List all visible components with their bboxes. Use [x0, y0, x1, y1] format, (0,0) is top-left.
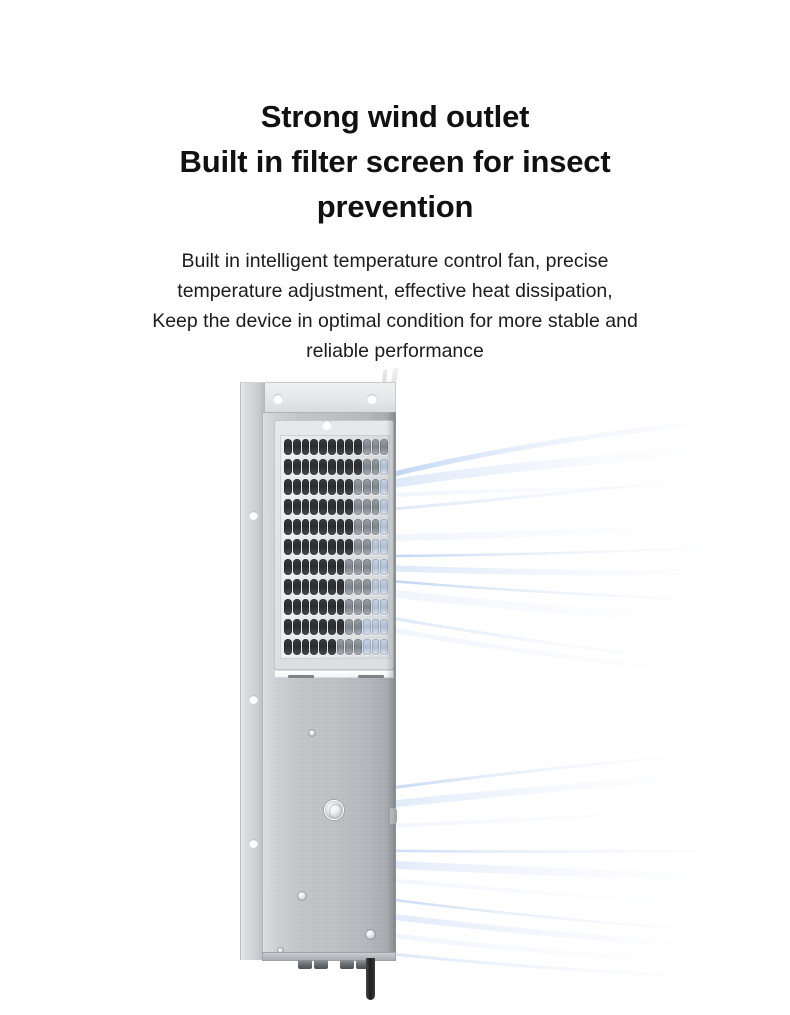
- grille-slot: [310, 579, 318, 595]
- grille-slot: [337, 579, 345, 595]
- grille-slot: [302, 559, 310, 575]
- grille-slot: [319, 599, 327, 615]
- grille-slot: [284, 559, 292, 575]
- grille-slot: [372, 539, 380, 555]
- grille-slot: [372, 459, 380, 475]
- grille-slot: [293, 579, 301, 595]
- grille-slot: [310, 639, 318, 655]
- grille-slot: [310, 619, 318, 635]
- grille-slot: [354, 479, 362, 495]
- grille-slot: [363, 579, 371, 595]
- grille-slot: [337, 499, 345, 515]
- grille-slot: [337, 519, 345, 535]
- grille-slot: [310, 439, 318, 455]
- grille-slot: [345, 579, 353, 595]
- grille-slot: [293, 499, 301, 515]
- grille-slot: [363, 439, 371, 455]
- grille-slot: [354, 599, 362, 615]
- page-description-line-1: Built in intelligent temperature control…: [0, 246, 790, 276]
- grille-slot-grid: [284, 439, 388, 657]
- grille-slot: [310, 459, 318, 475]
- grille-slot: [328, 639, 336, 655]
- grille-slot: [319, 579, 327, 595]
- grille-slot: [293, 519, 301, 535]
- page-description-line-2: temperature adjustment, effective heat d…: [0, 276, 790, 306]
- grille-slot: [363, 639, 371, 655]
- grille-slot: [284, 639, 292, 655]
- grille-slot: [345, 539, 353, 555]
- chassis-bottom-edge: [262, 952, 396, 961]
- grille-slot: [293, 639, 301, 655]
- grille-slot: [293, 619, 301, 635]
- grille-slot: [284, 539, 292, 555]
- grille-slot: [337, 439, 345, 455]
- fixing-screw: [366, 930, 375, 939]
- grille-slot: [319, 499, 327, 515]
- grille-slot: [372, 439, 380, 455]
- grille-slot: [372, 639, 380, 655]
- grille-slot: [363, 459, 371, 475]
- grille-slot: [302, 479, 310, 495]
- fixing-screw: [298, 892, 306, 900]
- grille-slot: [354, 499, 362, 515]
- grille-slot: [328, 619, 336, 635]
- grille-slot: [328, 479, 336, 495]
- ventilation-grille: [274, 420, 394, 670]
- grille-slot: [319, 639, 327, 655]
- grille-slot: [345, 599, 353, 615]
- grille-slot: [354, 539, 362, 555]
- fixing-screw: [309, 730, 315, 736]
- airflow-graphic: [330, 360, 790, 1015]
- page-title-line-3: prevention: [0, 184, 790, 229]
- grille-slot: [372, 519, 380, 535]
- grille-slot: [328, 459, 336, 475]
- grille-slot: [328, 519, 336, 535]
- grille-slot: [284, 479, 292, 495]
- grille-slot: [363, 619, 371, 635]
- power-cable: [366, 958, 375, 1000]
- grille-slot: [372, 579, 380, 595]
- grille-slot: [284, 519, 292, 535]
- mounting-hole: [249, 695, 258, 704]
- grille-slot: [284, 439, 292, 455]
- grille-slot: [293, 479, 301, 495]
- grille-slot: [302, 439, 310, 455]
- connector-port: [298, 960, 312, 969]
- grille-slot: [310, 559, 318, 575]
- grille-slot: [337, 539, 345, 555]
- connector-port: [314, 960, 328, 969]
- connector-port: [340, 960, 354, 969]
- grille-slot: [319, 459, 327, 475]
- grille-slot: [284, 619, 292, 635]
- grille-slot: [302, 539, 310, 555]
- grille-slot: [354, 439, 362, 455]
- page-title: Strong wind outlet Built in filter scree…: [0, 94, 790, 229]
- grille-slot: [345, 619, 353, 635]
- grille-slot: [328, 599, 336, 615]
- grille-slot: [319, 439, 327, 455]
- grille-slot: [337, 459, 345, 475]
- grille-slot: [345, 559, 353, 575]
- page-title-line-1: Strong wind outlet: [0, 94, 790, 139]
- grille-slot: [337, 619, 345, 635]
- grille-slot: [337, 639, 345, 655]
- grille-slot: [345, 459, 353, 475]
- grille-slot: [328, 539, 336, 555]
- grille-slot: [284, 499, 292, 515]
- page-description: Built in intelligent temperature control…: [0, 246, 790, 366]
- grille-slot: [337, 599, 345, 615]
- grille-slot: [328, 579, 336, 595]
- grille-slot: [293, 439, 301, 455]
- grille-slot: [310, 539, 318, 555]
- grille-slot: [354, 619, 362, 635]
- grille-slot: [302, 619, 310, 635]
- center-mounting-hole: [322, 420, 332, 430]
- grille-slot: [293, 559, 301, 575]
- top-flange-hole: [367, 394, 377, 404]
- grille-slot: [363, 559, 371, 575]
- grille-slot: [372, 619, 380, 635]
- grille-slot: [354, 639, 362, 655]
- top-mounting-flange: [254, 382, 396, 416]
- lock-knob[interactable]: [324, 800, 344, 820]
- grille-slot: [363, 479, 371, 495]
- grille-slot: [328, 439, 336, 455]
- grille-slot: [319, 619, 327, 635]
- grille-slot: [354, 519, 362, 535]
- grille-slot: [345, 639, 353, 655]
- grille-slot: [284, 459, 292, 475]
- grille-slot: [293, 459, 301, 475]
- grille-slot: [293, 539, 301, 555]
- grille-slot: [302, 459, 310, 475]
- grille-slot: [319, 479, 327, 495]
- device-chassis: [240, 382, 396, 982]
- grille-slot: [328, 559, 336, 575]
- top-flange-hole: [273, 394, 283, 404]
- grille-slot: [354, 459, 362, 475]
- product-image: [0, 360, 790, 1015]
- side-outlet-nub: [390, 808, 397, 824]
- grille-slot: [302, 639, 310, 655]
- grille-slot: [345, 519, 353, 535]
- grille-slot: [372, 559, 380, 575]
- filter-pull-tab[interactable]: [358, 675, 384, 678]
- filter-pull-tab[interactable]: [288, 675, 314, 678]
- grille-frame: [280, 435, 390, 659]
- page-title-line-2: Built in filter screen for insect: [0, 139, 790, 184]
- grille-slot: [363, 499, 371, 515]
- page-description-line-3: Keep the device in optimal condition for…: [0, 306, 790, 336]
- grille-slot: [363, 519, 371, 535]
- grille-slot: [319, 539, 327, 555]
- mounting-hole: [249, 839, 258, 848]
- grille-slot: [372, 499, 380, 515]
- chassis-right-bevel: [386, 412, 396, 960]
- grille-slot: [310, 479, 318, 495]
- product-feature-page: Strong wind outlet Built in filter scree…: [0, 0, 790, 1015]
- grille-slot: [328, 499, 336, 515]
- grille-slot: [354, 579, 362, 595]
- grille-slot: [284, 579, 292, 595]
- grille-slot: [310, 599, 318, 615]
- grille-slot: [293, 599, 301, 615]
- grille-slot: [363, 599, 371, 615]
- grille-slot: [372, 599, 380, 615]
- grille-slot: [310, 519, 318, 535]
- grille-slot: [319, 519, 327, 535]
- grille-slot: [372, 479, 380, 495]
- grille-slot: [354, 559, 362, 575]
- grille-slot: [302, 579, 310, 595]
- grille-slot: [337, 479, 345, 495]
- grille-slot: [319, 559, 327, 575]
- grille-slot: [302, 519, 310, 535]
- mounting-hole: [249, 511, 258, 520]
- grille-slot: [337, 559, 345, 575]
- grille-slot: [284, 599, 292, 615]
- grille-slot: [345, 499, 353, 515]
- grille-slot: [345, 439, 353, 455]
- grille-slot: [302, 599, 310, 615]
- grille-slot: [302, 499, 310, 515]
- grille-slot: [363, 539, 371, 555]
- grille-slot: [310, 499, 318, 515]
- grille-slot: [345, 479, 353, 495]
